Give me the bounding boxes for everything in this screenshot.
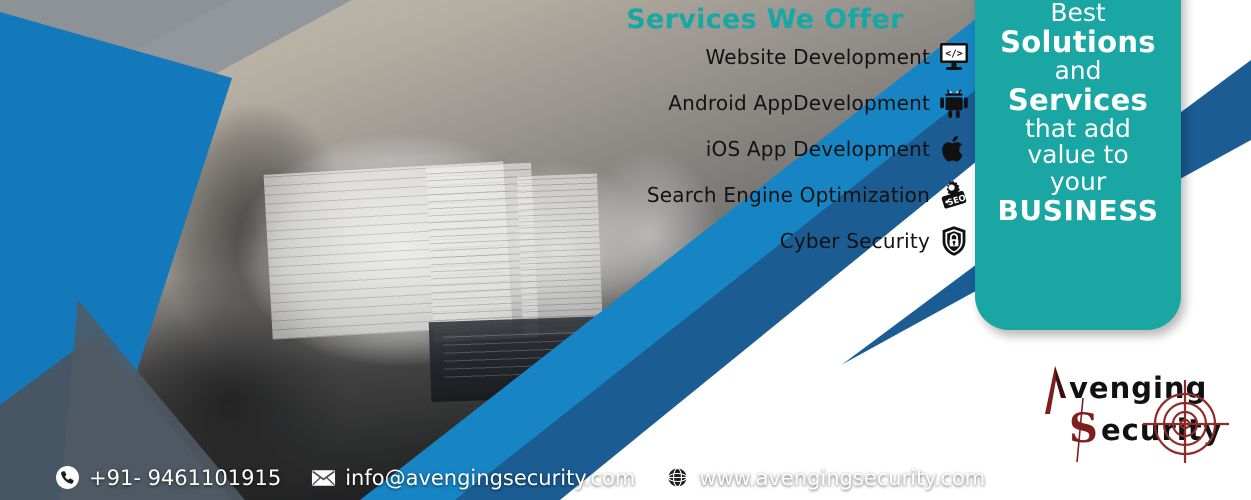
service-label: Website Development — [705, 45, 930, 69]
services-section: Services We Offer Website Development </… — [560, 4, 970, 269]
contact-email[interactable]: info@avengingsecurity.com — [311, 465, 635, 490]
contact-phone[interactable]: +91- 9461101915 — [55, 465, 281, 490]
logo-initial-a — [1045, 366, 1066, 414]
tagline-line-2: Solutions — [975, 27, 1181, 58]
contact-bar: +91- 9461101915 info@avengingsecurity.co… — [55, 465, 985, 490]
service-item-cyber-security[interactable]: Cyber Security — [560, 223, 970, 259]
contact-website[interactable]: www.avengingsecurity.com — [665, 465, 985, 490]
email-address: info@avengingsecurity.com — [345, 466, 635, 490]
tagline-line-7: your — [975, 169, 1181, 196]
phone-icon — [55, 465, 80, 490]
tagline-line-1: Best — [975, 0, 1181, 27]
service-item-search-engine-optimization[interactable]: Search Engine Optimization SEO — [560, 177, 970, 213]
tagline-line-8: BUSINESS — [975, 196, 1181, 226]
website-url: www.avengingsecurity.com — [699, 466, 985, 490]
service-label: iOS App Development — [706, 137, 930, 161]
service-label: Android AppDevelopment — [668, 91, 930, 115]
promotional-banner: Services We Offer Website Development </… — [0, 0, 1251, 500]
logo-initial-s: S — [1069, 398, 1098, 462]
svg-text:</>: </> — [945, 49, 962, 60]
service-label: Search Engine Optimization — [647, 183, 930, 207]
apple-icon — [938, 133, 970, 165]
globe-icon — [665, 465, 690, 490]
tagline-line-5: that add — [975, 116, 1181, 143]
monitor-code-icon: </> — [938, 41, 970, 73]
android-icon — [938, 87, 970, 119]
tagline-line-6: value to — [975, 142, 1181, 169]
service-label: Cyber Security — [780, 229, 930, 253]
company-logo[interactable]: venging S ecurity — [1025, 358, 1235, 463]
shield-lock-icon — [938, 225, 970, 257]
svg-text:S: S — [1069, 405, 1098, 452]
services-heading: Services We Offer — [560, 4, 970, 35]
envelope-icon — [311, 465, 336, 490]
service-item-ios-app-development[interactable]: iOS App Development — [560, 131, 970, 167]
phone-number: +91- 9461101915 — [89, 466, 281, 490]
service-item-website-development[interactable]: Website Development </> — [560, 39, 970, 75]
logo-word-avenging: venging — [1069, 371, 1207, 405]
service-item-android-app-development[interactable]: Android AppDevelopment — [560, 85, 970, 121]
tagline-line-3: and — [975, 58, 1181, 85]
tagline-panel: Best Solutions and Services that add val… — [975, 0, 1181, 330]
tagline-line-4: Services — [975, 85, 1181, 116]
seo-tag-icon: SEO — [938, 179, 970, 211]
